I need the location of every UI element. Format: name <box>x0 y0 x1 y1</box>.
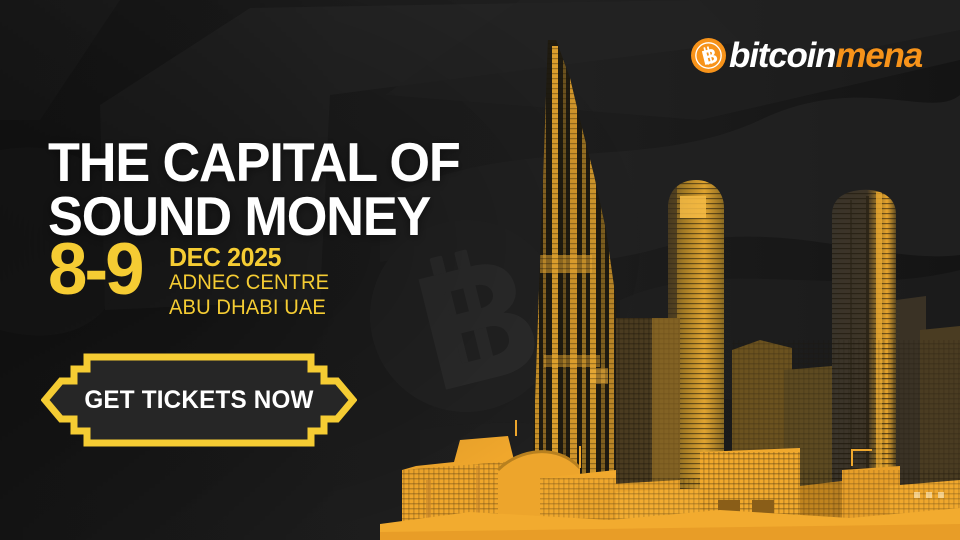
brand-name-primary: bitcoin <box>729 36 835 75</box>
bitcoin-coin-icon <box>691 38 726 73</box>
event-details: 8-9 DEC 2025 ADNEC CENTRE ABU DHABI UAE <box>48 238 335 321</box>
event-venue: ADNEC CENTRE <box>169 271 329 296</box>
brand-name-secondary: mena <box>835 36 922 75</box>
brand-logo-text: bitcoinmena <box>729 38 922 73</box>
event-city: ABU DHABI UAE <box>169 296 329 321</box>
ticket-shape-icon <box>41 353 357 447</box>
event-days: 8-9 <box>48 240 142 300</box>
brand-logo[interactable]: bitcoinmena <box>691 33 922 77</box>
headline-line-1: THE CAPITAL OF <box>48 135 542 189</box>
event-date-venue: DEC 2025 ADNEC CENTRE ABU DHABI UAE <box>169 243 329 321</box>
get-tickets-button[interactable]: GET TICKETS NOW <box>41 353 357 447</box>
page-title: THE CAPITAL OF SOUND MONEY <box>48 135 542 244</box>
event-promo-banner: bitcoinmena THE CAPITAL OF SOUND MONEY 8… <box>0 0 960 540</box>
abu-dhabi-skyline-duotone <box>380 0 960 540</box>
event-month-year: DEC 2025 <box>169 243 329 271</box>
